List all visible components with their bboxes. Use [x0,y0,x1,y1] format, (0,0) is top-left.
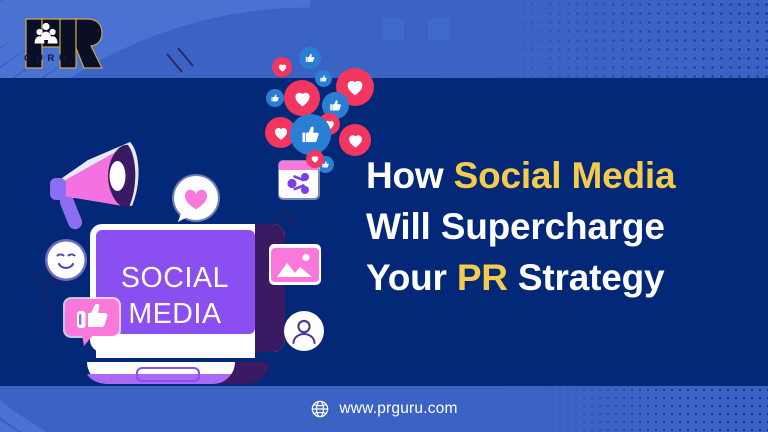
thumbs-up-bubble-icon [62,296,124,352]
reaction-heart-big-1 [284,80,320,116]
page-title: How Social Media Will Supercharge Your P… [366,150,758,303]
reaction-like-big-1 [290,114,331,155]
share-card-heart-badge [306,150,324,168]
reaction-like-medium-1 [266,89,284,107]
footer-url-text: www.prguru.com [339,400,457,418]
user-avatar-icon [283,310,325,352]
laptop-screen-line-1: SOCIAL [87,260,263,296]
dot-grid-top-right [438,0,768,78]
headline-line-2: Will Supercharge [366,201,758,252]
headline-line-1-accent: Social Media [454,155,676,196]
reaction-heart-small-1 [272,57,292,77]
globe-icon [310,399,330,419]
headline-line-1: How Social Media [366,150,758,201]
poster-canvas: GURU [0,0,768,432]
reaction-like-small-1 [299,47,321,69]
smiley-face-icon [44,238,88,282]
headline-line-3: Your PR Strategy [366,252,758,303]
headline-line-3-accent: PR [457,257,508,298]
reaction-like-small-2 [315,70,332,87]
footer-website[interactable]: www.prguru.com [0,386,768,432]
headline-line-3-plain: Your [366,257,457,298]
headline-line-1-plain: How [366,155,454,196]
photo-card-icon [268,243,322,289]
social-media-illustration: SOCIAL MEDIA [0,0,400,432]
headline-line-3-tail: Strategy [508,257,665,298]
